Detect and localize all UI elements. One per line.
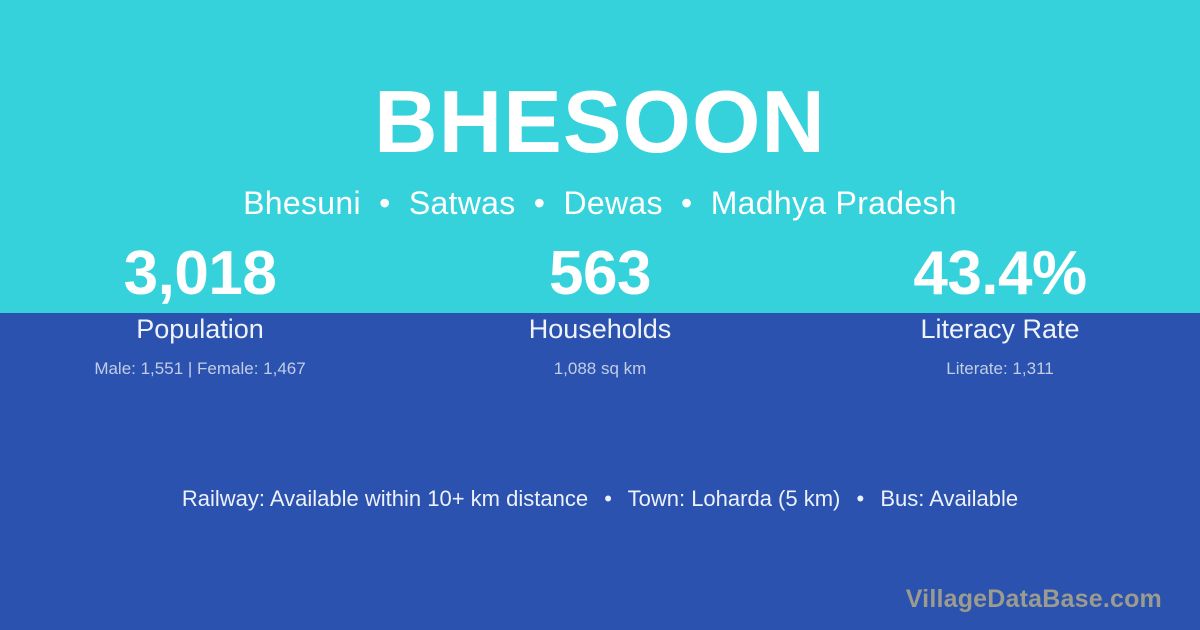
stats-row: 3,018 Population Male: 1,551 | Female: 1… bbox=[0, 243, 1200, 377]
village-info-card: BHESOON Bhesuni • Satwas • Dewas • Madhy… bbox=[0, 0, 1200, 630]
amenity-town: Town: Loharda (5 km) bbox=[628, 486, 841, 511]
stat-value: 3,018 bbox=[0, 243, 400, 309]
stat-label: Population bbox=[0, 309, 400, 343]
amenities-line: Railway: Available within 10+ km distanc… bbox=[0, 486, 1200, 512]
breadcrumb-district: Dewas bbox=[563, 185, 662, 221]
card-header: BHESOON Bhesuni • Satwas • Dewas • Madhy… bbox=[0, 0, 1200, 221]
stat-label: Literacy Rate bbox=[800, 309, 1200, 343]
page-title: BHESOON bbox=[0, 0, 1200, 166]
breadcrumb-state: Madhya Pradesh bbox=[711, 185, 957, 221]
bullet-separator-icon: • bbox=[847, 486, 875, 512]
stat-literacy-rate: 43.4% Literacy Rate Literate: 1,311 bbox=[800, 243, 1200, 377]
amenity-railway: Railway: Available within 10+ km distanc… bbox=[182, 486, 588, 511]
site-watermark: VillageDataBase.com bbox=[906, 587, 1162, 612]
stat-label: Households bbox=[400, 309, 800, 343]
bullet-separator-icon: • bbox=[370, 186, 400, 221]
stat-population: 3,018 Population Male: 1,551 | Female: 1… bbox=[0, 243, 400, 377]
stat-detail: Literate: 1,311 bbox=[800, 343, 1200, 377]
breadcrumb-block: Satwas bbox=[409, 185, 516, 221]
stat-value: 43.4% bbox=[800, 243, 1200, 309]
amenity-bus: Bus: Available bbox=[880, 486, 1018, 511]
bullet-separator-icon: • bbox=[672, 186, 702, 221]
stat-households: 563 Households 1,088 sq km bbox=[400, 243, 800, 377]
bullet-separator-icon: • bbox=[594, 486, 622, 512]
breadcrumb: Bhesuni • Satwas • Dewas • Madhya Prades… bbox=[0, 166, 1200, 221]
stat-detail: 1,088 sq km bbox=[400, 343, 800, 377]
breadcrumb-village: Bhesuni bbox=[243, 185, 361, 221]
bullet-separator-icon: • bbox=[525, 186, 555, 221]
stat-detail: Male: 1,551 | Female: 1,467 bbox=[0, 343, 400, 377]
stat-value: 563 bbox=[400, 243, 800, 309]
